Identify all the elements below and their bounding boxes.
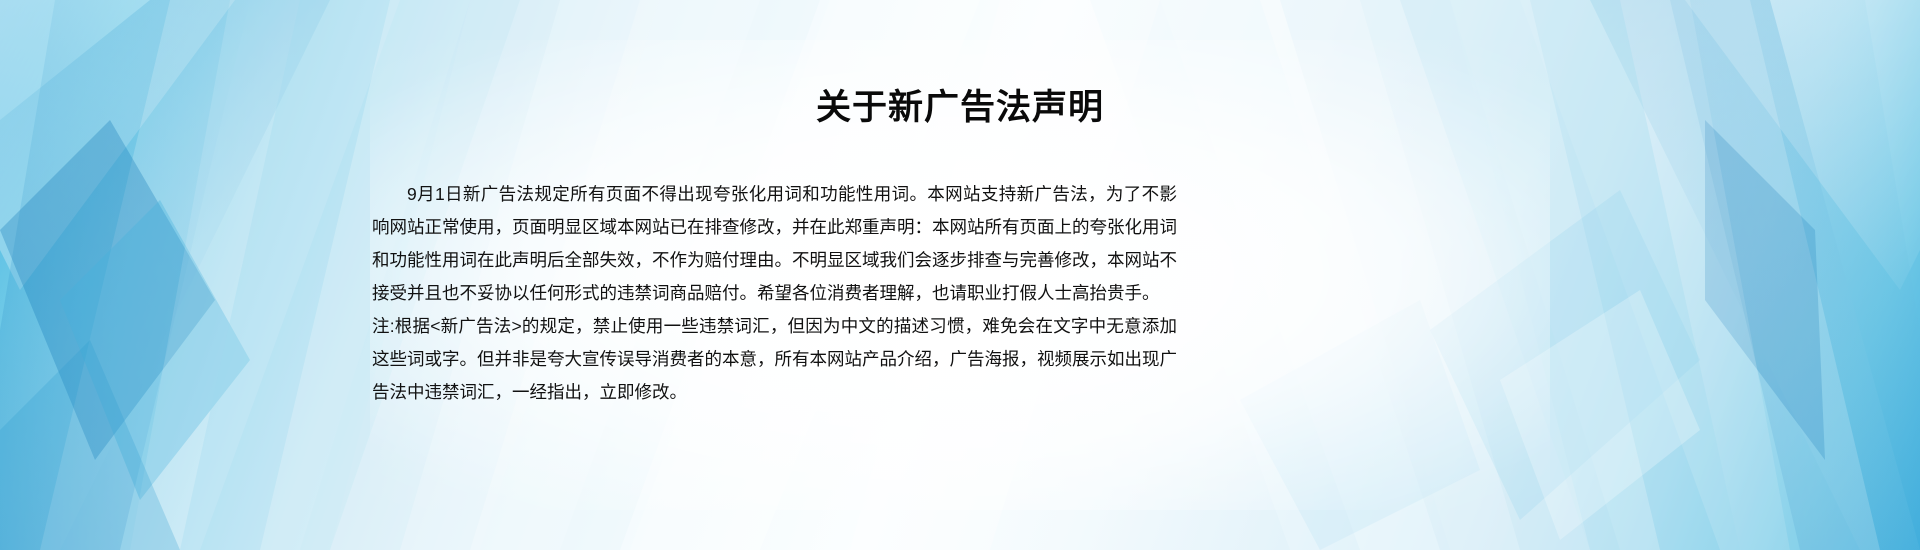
statement-paragraph-note: 注:根据<新广告法>的规定，禁止使用一些违禁词汇，但因为中文的描述习惯，难免会在…: [372, 310, 1177, 409]
statement-paragraph-main: 9月1日新广告法规定所有页面不得出现夸张化用词和功能性用词。本网站支持新广告法，…: [372, 178, 1177, 310]
statement-body: 9月1日新广告法规定所有页面不得出现夸张化用词和功能性用词。本网站支持新广告法，…: [372, 178, 1177, 409]
advertising-law-statement-banner: 关于新广告法声明 9月1日新广告法规定所有页面不得出现夸张化用词和功能性用词。本…: [0, 0, 1920, 550]
page-title: 关于新广告法声明: [0, 84, 1920, 132]
banner-content: 关于新广告法声明 9月1日新广告法规定所有页面不得出现夸张化用词和功能性用词。本…: [0, 0, 1920, 550]
